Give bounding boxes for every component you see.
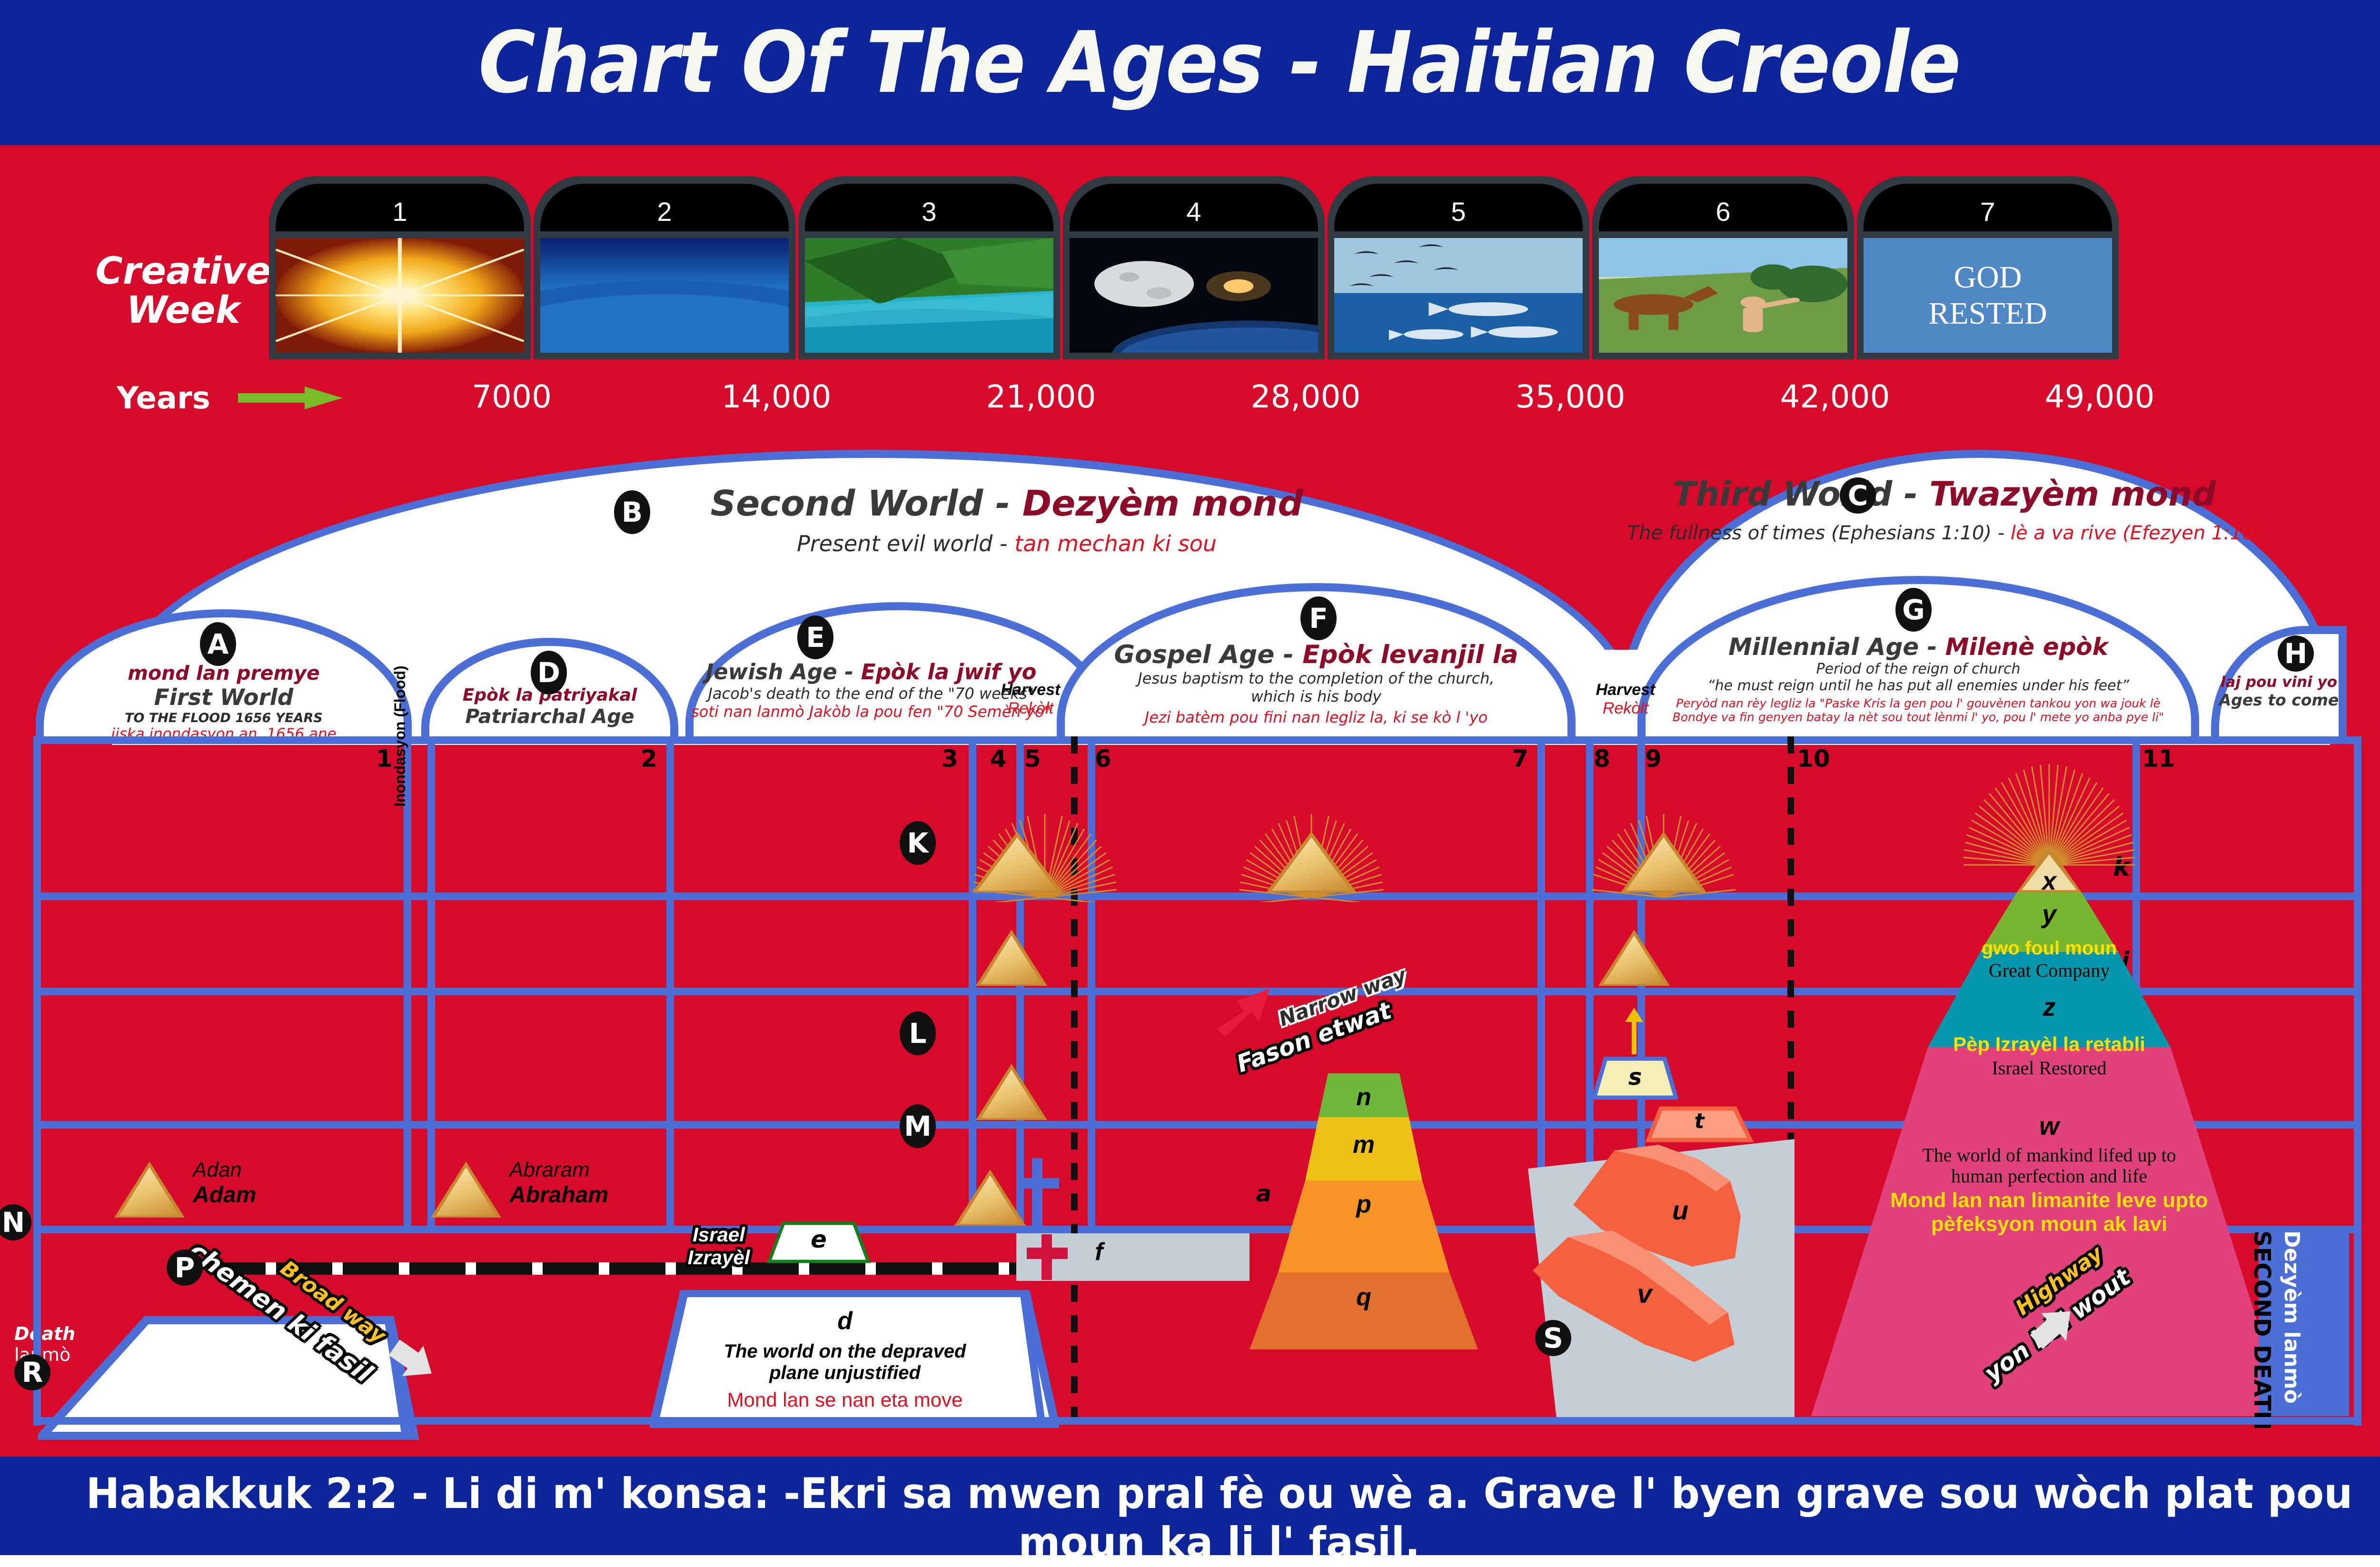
col-number-1: 1: [376, 745, 393, 773]
animals-man-icon: [1599, 238, 1847, 353]
year-tick: 7000: [381, 378, 643, 415]
depraved-letter-d: d: [650, 1307, 1040, 1335]
mp-w-ht-1: Mond lan nan limanite leve upto: [1811, 1189, 2287, 1212]
title-bar: Chart Of The Ages - Haitian Creole: [0, 0, 2380, 145]
badge-row-M: M: [900, 1104, 936, 1148]
rock-letter-u: u: [1573, 1195, 1787, 1226]
year-tick: 42,000: [1704, 378, 1966, 415]
death-en: Death: [14, 1323, 109, 1344]
israel-en: Israel: [666, 1223, 771, 1246]
col-number-8: 8: [1594, 745, 1610, 773]
col-number-2: 2: [641, 745, 657, 773]
sun-moon-icon: [1070, 238, 1318, 353]
creative-day-cell: 4: [1063, 176, 1325, 359]
mp-y-en: Great Company: [1811, 959, 2287, 982]
creative-day-cell: 5: [1328, 176, 1589, 359]
trapezoid-letter-e: e: [766, 1226, 871, 1253]
mp-y-ht: gwo foul moun: [1811, 938, 2287, 959]
land-vegetation-icon: [805, 238, 1053, 353]
israel-label: Israel Izrayèl: [666, 1223, 771, 1269]
footer-quote: Habakkuk 2:2 - Li di m' konsa: -Ekri sa …: [49, 1469, 2380, 1567]
badge-row-P: P: [167, 1250, 203, 1286]
arch-frame: 5: [1328, 176, 1589, 233]
grid-vline-left: [33, 736, 41, 1227]
second-death-text-en: SECOND DEATH: [2249, 1230, 2275, 1421]
badge-age-A: A: [200, 622, 236, 666]
badge-age-E: E: [797, 615, 833, 659]
year-tick: 21,000: [910, 378, 1172, 415]
badge-row-K: K: [900, 821, 936, 865]
narrow-way-arrow-icon: [1214, 988, 1276, 1040]
mp-z-en: Israel Restored: [1811, 1057, 2287, 1079]
broad-way-arrow-icon: [386, 1340, 438, 1392]
arch-frame: 4: [1063, 176, 1325, 233]
depraved-en-2: plane unjustified: [650, 1362, 1040, 1384]
badge-age-F: F: [1300, 596, 1337, 640]
day-number: 1: [276, 184, 524, 233]
creative-day-cell: 1: [269, 176, 531, 359]
mp-letter-y: y: [1811, 900, 2287, 929]
adam-label: Adan Adam: [193, 1158, 256, 1208]
day-image-frame: [1592, 231, 1854, 359]
col-number-9: 9: [1645, 745, 1662, 773]
grid-vline-2: [666, 736, 674, 1227]
highway-arrow-icon: [2028, 1307, 2080, 1359]
depraved-en-1: The world on the depraved: [650, 1341, 1040, 1362]
cross-box-letter-f: f: [1095, 1238, 1103, 1266]
diagram-frame-left-lower: [33, 1226, 41, 1426]
adam-en: Adam: [193, 1182, 256, 1208]
year-tick: 14,000: [645, 378, 907, 415]
years-label: Years: [117, 381, 210, 416]
depraved-ht: Mond lan se nan eta move: [650, 1388, 1040, 1411]
creative-day-cell: 3: [798, 176, 1060, 359]
day-number: 7: [1864, 184, 2112, 233]
creative-day-cell: 7 GOD RESTED: [1857, 176, 2119, 359]
col-number-4: 4: [990, 745, 1007, 773]
badge-third-world: C: [1840, 477, 1876, 514]
god-rested-line1: GOD: [1954, 259, 2022, 296]
day-number: 2: [540, 184, 789, 233]
arch-frame: 7: [1857, 176, 2119, 233]
god-rested-panel: GOD RESTED: [1864, 238, 2112, 353]
badge-row-S: S: [1535, 1320, 1571, 1356]
plane-grid: 1 2 3 4 5 6 7 8 9 10 11 K L M N P R S In…: [71, 445, 2370, 1433]
pyramid-letter-n: n: [1211, 1083, 1516, 1111]
adam-ht: Adan: [193, 1158, 256, 1182]
mp-w-en-2: human perfection and life: [1811, 1165, 2287, 1187]
year-tick: 28,000: [1175, 378, 1437, 415]
mp-z-ht: Pèp Izrayèl la retabli: [1811, 1033, 2287, 1056]
flood-label: Inondasyon (Flood): [391, 607, 409, 807]
birds-fish-icon: [1334, 238, 1583, 353]
creative-day-cell: 2: [534, 176, 795, 359]
day-number: 6: [1599, 184, 1847, 233]
israel-ht: Izrayèl: [666, 1246, 771, 1269]
day-number: 5: [1334, 184, 1583, 233]
arch-frame: 3: [798, 176, 1060, 233]
diagram-frame-bottom: [33, 1417, 2361, 1425]
col-number-10: 10: [1797, 745, 1830, 773]
second-death-text-ht: Dezyèm lanmò: [2280, 1230, 2304, 1421]
col-number-7: 7: [1512, 745, 1528, 773]
trapezoid-letter-t: t: [1645, 1109, 1754, 1133]
mp-letter-w: w: [1811, 1111, 2287, 1141]
year-tick: 35,000: [1439, 378, 1701, 415]
pyramid-letter-p: p: [1211, 1190, 1516, 1219]
footer-bar: Habakkuk 2:2 - Li di m' konsa: -Ekri sa …: [0, 1457, 2380, 1555]
rock-letter-v: v: [1533, 1278, 1756, 1309]
pyramid-letter-q: q: [1211, 1283, 1516, 1311]
light-burst-icon: [276, 238, 524, 353]
grid-vline-1b: [427, 736, 435, 1227]
col-number-6: 6: [1095, 745, 1111, 773]
day-image-frame: [534, 231, 795, 359]
diagram-frame-right-lower: [2354, 1226, 2361, 1426]
grid-vline-1: [404, 736, 411, 1227]
abraham-en: Abraham: [509, 1182, 608, 1208]
god-rested-line2: RESTED: [1928, 296, 2047, 332]
day-number: 3: [805, 184, 1053, 233]
arch-frame: 6: [1592, 176, 1854, 233]
badge-age-D: D: [531, 651, 567, 694]
mp-letter-x: x: [1811, 866, 2287, 896]
years-arrow-icon: [238, 387, 343, 409]
day-number: 4: [1070, 184, 1318, 233]
mp-letter-z: z: [1811, 992, 2287, 1022]
badge-age-H: H: [2278, 635, 2314, 672]
cross-red-icon-bar: [1027, 1248, 1068, 1259]
abraham-ht: Abraram: [509, 1158, 608, 1182]
day-image-frame: [1328, 231, 1589, 359]
badge-row-R: R: [14, 1354, 50, 1390]
page-title: Chart Of The Ages - Haitian Creole: [98, 13, 2341, 112]
arch-frame: 2: [534, 176, 795, 233]
depraved-text: d The world on the depraved plane unjust…: [650, 1307, 1040, 1411]
col-number-5: 5: [1024, 745, 1041, 773]
creative-day-cell: 6: [1592, 176, 1854, 359]
creative-week-label: Creative Week: [93, 252, 274, 330]
ocean-firmament-icon: [540, 238, 789, 353]
mp-w-en-1: The world of mankind lifed up to: [1811, 1144, 2287, 1166]
god-rested-frame: GOD RESTED: [1857, 231, 2119, 359]
road-dotted-p: [209, 1262, 1038, 1275]
arch-frame: 1: [269, 176, 531, 233]
pyramid-letter-m: m: [1211, 1131, 1516, 1159]
badge-row-L: L: [900, 1012, 936, 1055]
ages-diagram: B Second World - Dezyèm mond Present evi…: [71, 445, 2370, 1433]
grid-hline-top: [33, 736, 2361, 744]
badge-age-G: G: [1895, 588, 1932, 632]
day-image-frame: [1063, 231, 1325, 359]
year-tick: 49,000: [1969, 378, 2231, 415]
col-number-3: 3: [942, 745, 958, 773]
arrow-up-icon: [1623, 1007, 1645, 1054]
grid-vline-right: [2354, 736, 2361, 1227]
day-image-frame: [798, 231, 1060, 359]
abraham-label: Abraram Abraham: [509, 1158, 608, 1208]
mp-w-ht-2: pèfeksyon moun ak lavi: [1811, 1212, 2287, 1236]
badge-second-world: B: [614, 490, 650, 534]
day-image-frame: [269, 231, 531, 359]
